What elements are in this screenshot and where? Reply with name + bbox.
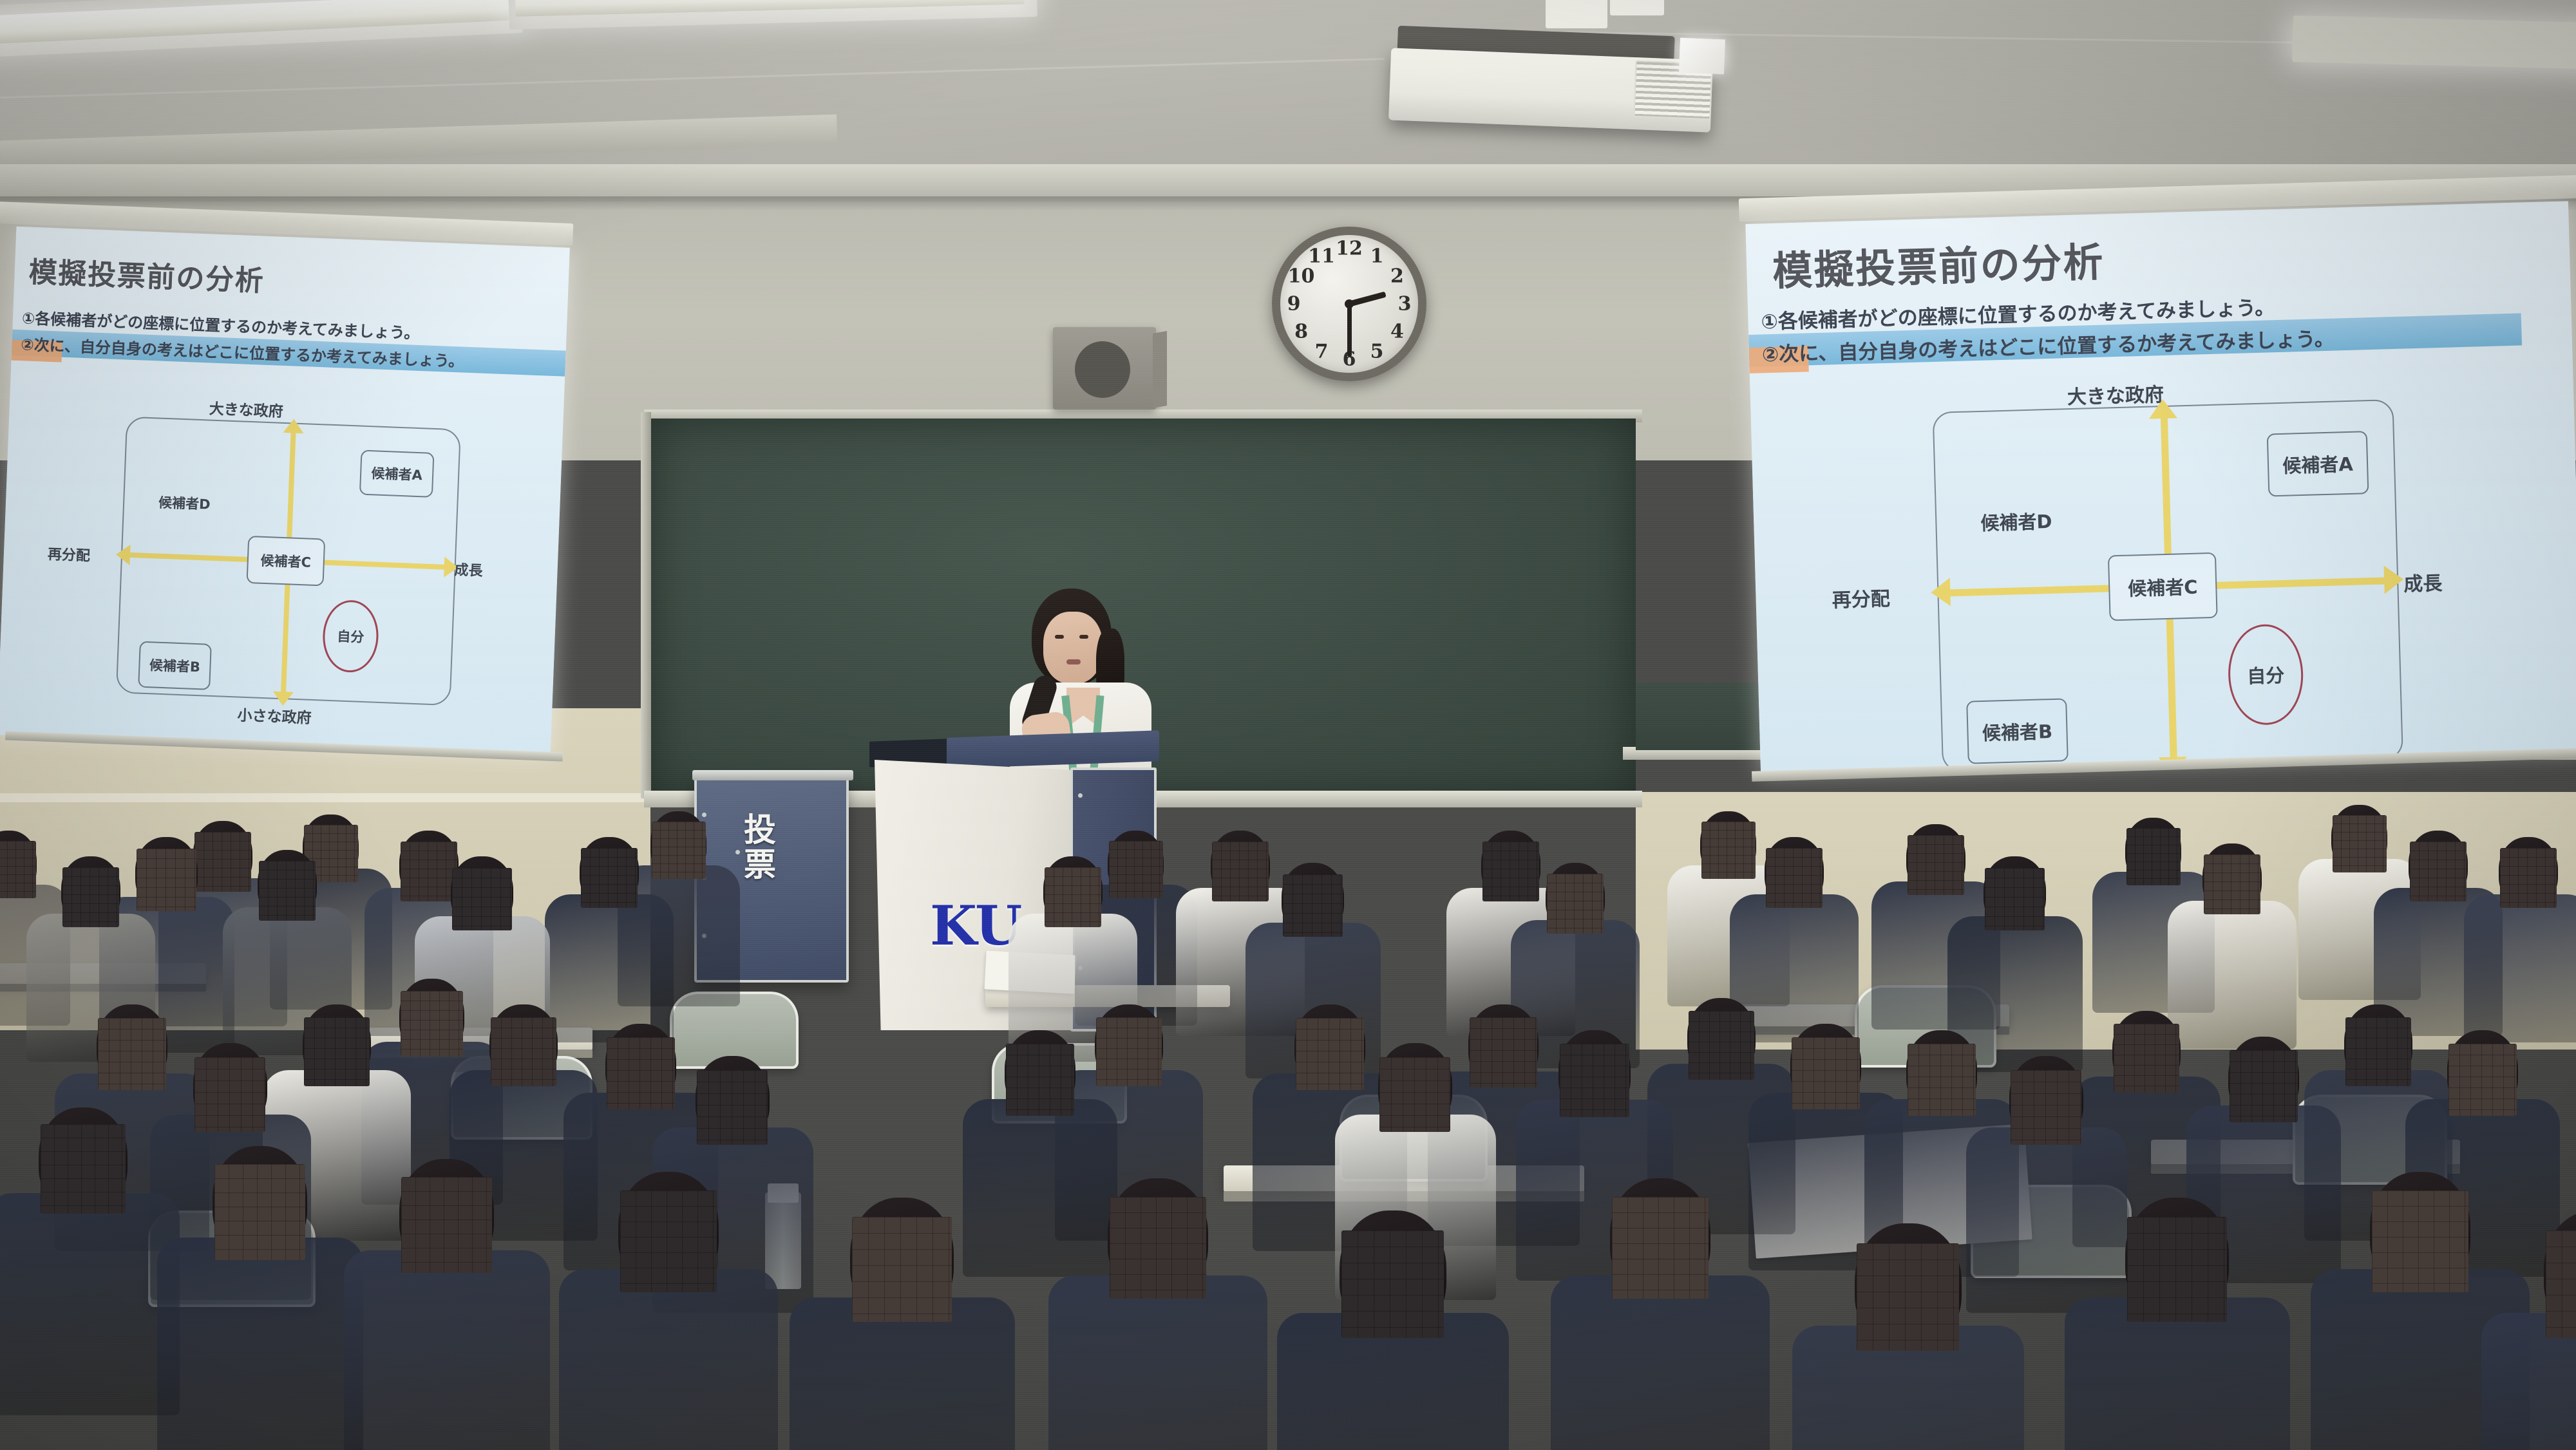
- face-pixelation: [2011, 1070, 2081, 1145]
- face-pixelation: [2126, 828, 2181, 885]
- face-pixelation: [1612, 1197, 1709, 1299]
- candidate-c-marker: 候補者C: [2108, 552, 2218, 621]
- face-pixelation: [137, 849, 196, 911]
- face-pixelation: [1857, 1243, 1959, 1351]
- clock-numeral: 8: [1294, 321, 1308, 343]
- candidate-b-marker: 候補者B: [1966, 698, 2069, 764]
- face-pixelation: [401, 1177, 492, 1273]
- audience-torso: [2464, 894, 2576, 1042]
- ballot-box-lid: [692, 770, 853, 780]
- face-pixelation: [1212, 842, 1269, 901]
- axis-label-left: 再分配: [47, 543, 90, 565]
- candidate-c-marker: 候補者C: [246, 536, 325, 587]
- face-pixelation: [2448, 1044, 2517, 1116]
- chalkboard-edge: [641, 412, 651, 798]
- face-pixelation: [2410, 842, 2467, 901]
- face-pixelation: [852, 1217, 952, 1322]
- axis-arrow-left: [1931, 578, 1951, 607]
- projector-mount: [1610, 0, 1664, 15]
- axis-label-top: 大きな政府: [209, 396, 283, 420]
- face-pixelation: [304, 1017, 370, 1086]
- audience-torso: [545, 894, 674, 1042]
- face-pixelation: [2546, 1230, 2576, 1338]
- face-pixelation: [2230, 1050, 2298, 1122]
- clock-numeral: 3: [1398, 293, 1412, 315]
- face-pixelation: [1482, 842, 1539, 901]
- face-pixelation: [62, 867, 119, 927]
- face-pixelation: [2345, 1017, 2411, 1086]
- axis-label-left: 再分配: [1832, 583, 1890, 612]
- face-pixelation: [259, 861, 316, 921]
- axis-arrow-right: [2384, 565, 2404, 594]
- face-pixelation: [1908, 835, 1964, 895]
- face-pixelation: [1296, 1018, 1364, 1090]
- face-pixelation: [1792, 1037, 1860, 1109]
- presenter-face: [1043, 612, 1103, 684]
- face-pixelation: [2204, 854, 2260, 914]
- face-pixelation: [1470, 1017, 1537, 1087]
- audience-torso: [1966, 1127, 2127, 1313]
- axis-label-right: 成長: [2403, 567, 2443, 597]
- clock-hour-hand: [1349, 292, 1386, 307]
- face-pixelation: [652, 822, 706, 879]
- audience-torso: [157, 1238, 363, 1450]
- face-pixelation: [41, 1124, 126, 1214]
- face-pixelation: [2372, 1191, 2468, 1292]
- speaker-cone-icon: [1075, 341, 1130, 398]
- presenter-eye: [1079, 635, 1088, 639]
- face-pixelation: [1096, 1017, 1162, 1086]
- baseboard: [0, 793, 650, 802]
- rivet: [702, 813, 706, 817]
- presenter-mouth: [1066, 659, 1081, 664]
- face-pixelation: [98, 1018, 166, 1090]
- face-pixelation: [1547, 874, 1604, 934]
- audience-torso: [1551, 1276, 1770, 1450]
- projector-lens: [1679, 38, 1725, 75]
- face-pixelation: [2333, 815, 2387, 872]
- face-pixelation: [2500, 848, 2557, 908]
- clock-numeral: 4: [1390, 321, 1404, 343]
- face-pixelation: [607, 1037, 675, 1109]
- clock-numeral: 10: [1288, 265, 1315, 288]
- face-pixelation: [1985, 868, 2045, 930]
- slide-title: 模擬投票前の分析: [28, 249, 265, 299]
- clock-minute-hand: [1347, 304, 1352, 357]
- face-pixelation: [1109, 841, 1163, 898]
- face-pixelation: [697, 1070, 768, 1145]
- audience-torso: [2168, 901, 2297, 1049]
- ballot-box-label: 投票: [734, 813, 781, 882]
- face-pixelation: [1689, 1011, 1754, 1080]
- clock-numeral: 2: [1390, 265, 1404, 288]
- candidate-d-marker: 候補者D: [158, 493, 211, 514]
- clock-numeral: 9: [1287, 293, 1301, 315]
- face-pixelation: [1379, 1057, 1450, 1132]
- projection-screen-right: 模擬投票前の分析 ①各候補者がどの座標に位置するのか考えてみましょう。 ②次に、…: [1745, 201, 2576, 774]
- clock-numeral: 7: [1315, 341, 1329, 363]
- face-pixelation: [491, 1017, 556, 1086]
- clock-numeral: 1: [1370, 245, 1384, 267]
- face-pixelation: [1560, 1044, 1629, 1117]
- face-pixelation: [1908, 1044, 1976, 1116]
- face-pixelation: [1341, 1230, 1444, 1338]
- audience-torso: [344, 1250, 550, 1450]
- face-pixelation: [194, 832, 251, 892]
- face-pixelation: [194, 1057, 265, 1132]
- face-pixelation: [0, 841, 36, 898]
- face-pixelation: [452, 868, 512, 930]
- wall-speaker: [1053, 327, 1156, 410]
- axis-arrow-left: [115, 544, 130, 565]
- slide-right: 模擬投票前の分析 ①各候補者がどの座標に位置するのか考えてみましょう。 ②次に、…: [1745, 201, 2576, 774]
- face-pixelation: [401, 991, 463, 1057]
- wall-clock: 121234567891011: [1272, 227, 1426, 381]
- candidate-a-marker: 候補者A: [2267, 431, 2369, 496]
- face-pixelation: [620, 1191, 717, 1292]
- audience-torso: [559, 1269, 778, 1450]
- face-pixelation: [2114, 1024, 2179, 1093]
- face-pixelation: [1006, 1044, 1074, 1116]
- audience-torso: [963, 1099, 1117, 1277]
- candidate-a-marker: 候補者A: [359, 450, 435, 498]
- candidate-d-marker: 候補者D: [1980, 507, 2052, 536]
- clock-numeral: 11: [1308, 245, 1335, 267]
- projection-screen-left: 模擬投票前の分析 ①各候補者がどの座標に位置するのか考えてみましょう。 ②次に、…: [0, 227, 570, 756]
- audience-torso: [1048, 1276, 1267, 1450]
- face-pixelation: [1283, 874, 1343, 937]
- clock-numeral: 12: [1336, 238, 1363, 260]
- candidate-b-marker: 候補者B: [138, 641, 212, 690]
- projector-mount: [1546, 0, 1607, 28]
- axis-arrow-up: [283, 419, 304, 433]
- face-pixelation: [2127, 1217, 2227, 1322]
- face-pixelation: [401, 842, 457, 901]
- presenter-eye: [1055, 635, 1064, 639]
- axis-label-bottom: 小さな政府: [237, 703, 312, 728]
- classroom-scene: 模擬投票前の分析 ①各候補者がどの座標に位置するのか考えてみましょう。 ②次に、…: [0, 0, 2576, 1450]
- face-pixelation: [581, 848, 638, 908]
- slide-left: 模擬投票前の分析 ①各候補者がどの座標に位置するのか考えてみましょう。 ②次に、…: [0, 227, 570, 756]
- face-pixelation: [1045, 867, 1101, 927]
- rivet: [1078, 793, 1083, 798]
- axis-label-right: 成長: [454, 558, 483, 580]
- slide-title: 模擬投票前の分析: [1772, 229, 2105, 296]
- clock-numeral: 5: [1370, 341, 1384, 363]
- face-pixelation: [1701, 822, 1756, 879]
- face-pixelation: [214, 1164, 305, 1260]
- face-pixelation: [1110, 1197, 1206, 1299]
- face-pixelation: [1766, 848, 1823, 908]
- audience-torso: [0, 1193, 180, 1415]
- speaker-side: [1153, 331, 1167, 408]
- light-housing: [2292, 15, 2576, 70]
- rivet: [735, 850, 740, 854]
- axis-arrow-up: [2148, 399, 2177, 419]
